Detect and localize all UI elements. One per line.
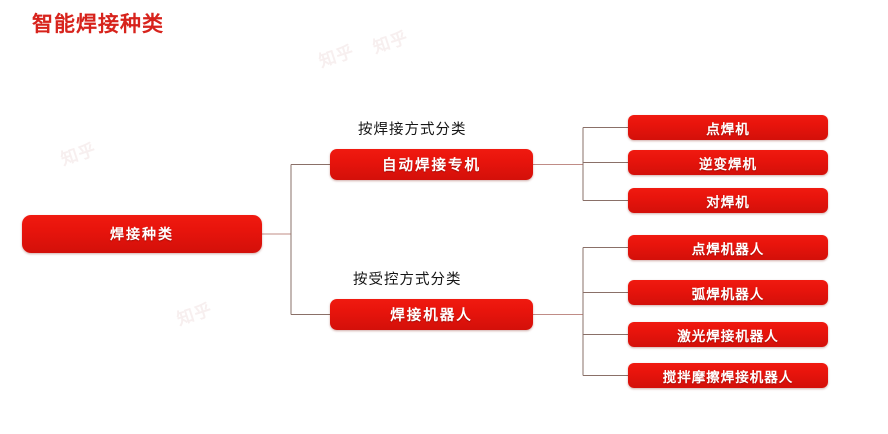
- node-butt-welder[interactable]: 对焊机: [628, 188, 828, 213]
- node-welding-robot[interactable]: 焊接机器人: [330, 299, 533, 330]
- node-root[interactable]: 焊接种类: [22, 215, 262, 253]
- branch-caption-welding-method: 按焊接方式分类: [358, 118, 467, 139]
- node-spot-welder[interactable]: 点焊机: [628, 115, 828, 140]
- branch-caption-control-method: 按受控方式分类: [353, 268, 462, 289]
- diagram-canvas: 知乎 知乎 知乎 知乎 知乎 智能焊接种类: [0, 0, 888, 434]
- node-inverter-welder[interactable]: 逆变焊机: [628, 150, 828, 175]
- node-spot-welding-robot[interactable]: 点焊机器人: [628, 235, 828, 260]
- node-arc-welding-robot[interactable]: 弧焊机器人: [628, 280, 828, 305]
- node-automatic-welding-machine[interactable]: 自动焊接专机: [330, 149, 533, 180]
- node-laser-welding-robot[interactable]: 激光焊接机器人: [628, 322, 828, 347]
- node-friction-stir-welding-robot[interactable]: 搅拌摩擦焊接机器人: [628, 363, 828, 388]
